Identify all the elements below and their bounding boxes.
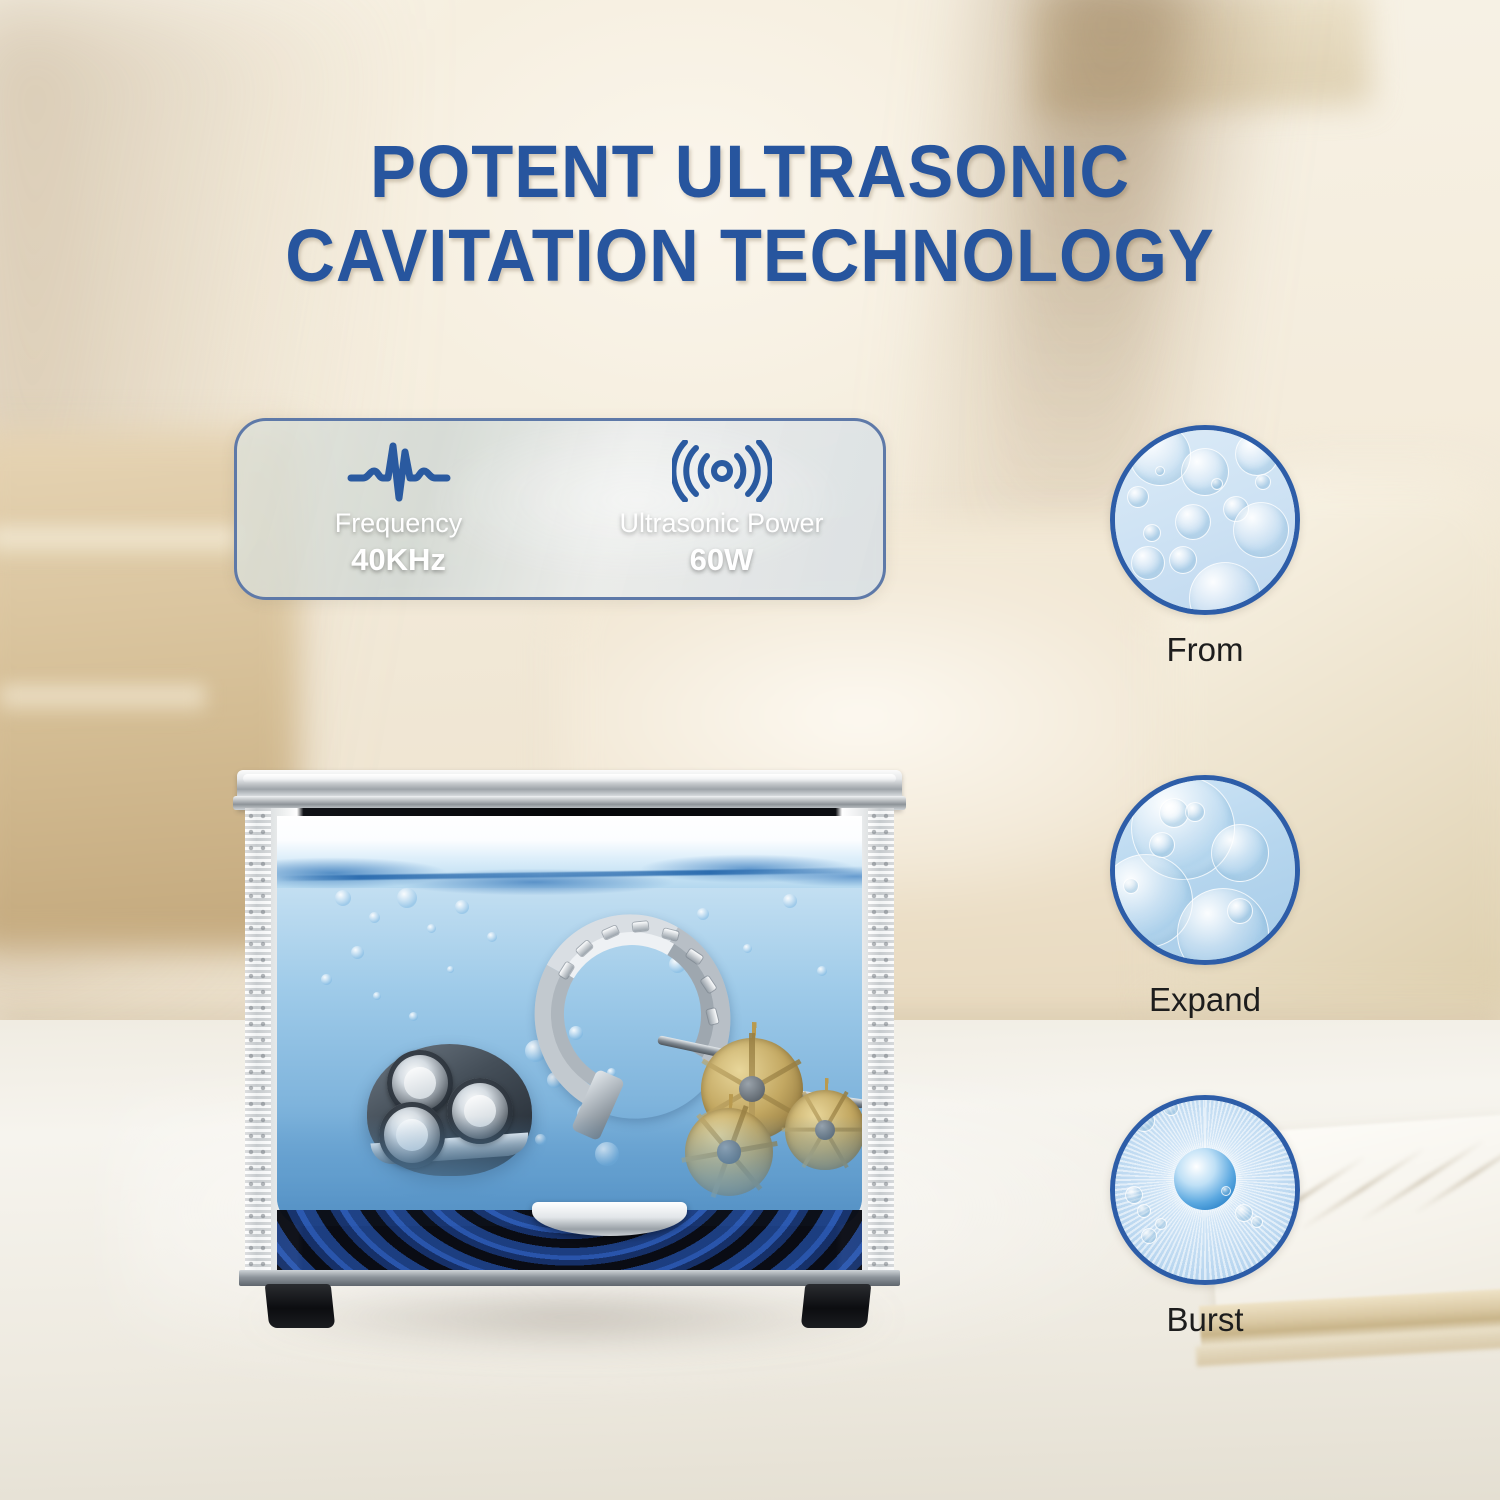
spec-label: Frequency: [237, 508, 560, 539]
spec-value: 60W: [560, 542, 883, 578]
device-side-panel-left: [245, 808, 271, 1278]
page-title-line-1: POTENT ULTRASONIC: [370, 130, 1130, 213]
device-shadow: [247, 1290, 897, 1350]
stage-from: From: [1110, 425, 1300, 669]
ultrasonic-signal-icon: [560, 440, 883, 502]
page-title: POTENT ULTRASONIC CAVITATION TECHNOLOGY: [53, 130, 1448, 298]
stage-burst: Burst: [1110, 1095, 1300, 1339]
waveform-pulse-icon: [237, 440, 560, 502]
spec-ultrasonic-power: Ultrasonic Power 60W: [560, 440, 883, 578]
device-foot-right: [801, 1284, 872, 1328]
spec-frequency: Frequency 40KHz: [237, 440, 560, 578]
burst-core: [1174, 1148, 1236, 1210]
background-shelf-upper: [0, 528, 240, 556]
large-bubbles-icon: [1110, 775, 1300, 965]
spec-value: 40KHz: [237, 542, 560, 578]
device-base-plate: [239, 1270, 900, 1286]
ultrasonic-cleaner-device: [237, 770, 902, 1330]
device-foot-left: [265, 1284, 336, 1328]
spec-panel: Frequency 40KHz Ultrasonic Power 60W: [234, 418, 886, 600]
page-title-line-2: CAVITATION TECHNOLOGY: [53, 214, 1448, 298]
bubble-burst-icon: [1110, 1095, 1300, 1285]
background-shelf-lower: [0, 686, 205, 712]
device-side-panel-right: [868, 808, 894, 1278]
stage-label: Burst: [1110, 1301, 1300, 1339]
stage-label: Expand: [1110, 981, 1300, 1019]
stage-label: From: [1110, 631, 1300, 669]
stage-expand: Expand: [1110, 775, 1300, 1019]
small-bubbles-icon: [1110, 425, 1300, 615]
spec-label: Ultrasonic Power: [560, 508, 883, 539]
device-water-tank: [277, 816, 862, 1226]
